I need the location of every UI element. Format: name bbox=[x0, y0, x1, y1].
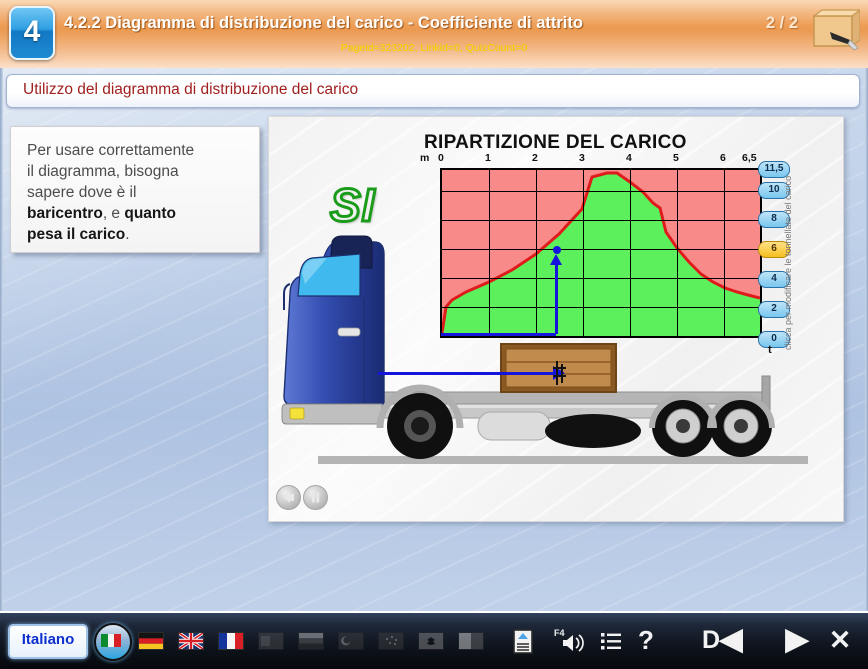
document-icon bbox=[509, 627, 537, 655]
flag-italy[interactable] bbox=[94, 623, 132, 661]
subtitle-text: Utilizzo del diagramma di distribuzione … bbox=[23, 81, 358, 99]
x-tick-5: 5 bbox=[673, 152, 679, 164]
flag-disabled-4[interactable] bbox=[378, 632, 404, 650]
info-line-3: sapere dove è il bbox=[27, 184, 136, 201]
x-tick-2: 2 bbox=[532, 152, 538, 164]
info-bold-baricentro: baricentro bbox=[27, 205, 103, 222]
flag-disabled-3-icon bbox=[339, 633, 363, 649]
pause-glyph bbox=[304, 486, 327, 509]
x-tick-1: 1 bbox=[485, 152, 491, 164]
info-line-1: Per usare correttamente bbox=[27, 142, 194, 159]
gridline-h-8 bbox=[442, 220, 760, 221]
info-box: Per usare correttamente il diagramma, bi… bbox=[10, 126, 260, 253]
info-period: . bbox=[125, 226, 129, 243]
x-tick-4: 4 bbox=[626, 152, 632, 164]
baricentro-marker[interactable] bbox=[551, 360, 569, 386]
flag-disabled-3[interactable] bbox=[338, 632, 364, 650]
back-arrow-glyph bbox=[277, 486, 300, 509]
flag-disabled-4-icon bbox=[379, 633, 403, 649]
flag-disabled-6[interactable] bbox=[458, 632, 484, 650]
info-mid: , e bbox=[103, 205, 125, 222]
flag-germany[interactable] bbox=[138, 632, 164, 650]
flag-disabled-1-icon bbox=[259, 633, 283, 649]
x-tick-6: 6 bbox=[720, 152, 726, 164]
y-axis-hint-text: clicca per modificare le tonnellate del … bbox=[783, 160, 801, 350]
pause-icon[interactable] bbox=[303, 485, 328, 510]
flag-uk[interactable] bbox=[178, 632, 204, 650]
previous-page-button[interactable]: ◀ bbox=[706, 627, 756, 653]
gridline-v-5 bbox=[677, 170, 678, 336]
back-icon[interactable] bbox=[276, 485, 301, 510]
app-header: 4 4.2.2 Diagramma di distribuzione del c… bbox=[0, 0, 868, 68]
bottom-toolbar: Italiano bbox=[0, 611, 868, 669]
chart-title: RIPARTIZIONE DEL CARICO bbox=[424, 132, 687, 154]
chart-x-axis: m 0 1 2 3 4 5 6 6,5 bbox=[420, 152, 770, 166]
info-line-2: il diagramma, bisogna bbox=[27, 163, 179, 180]
subtitle-bar: Utilizzo del diagramma di distribuzione … bbox=[6, 74, 860, 108]
index-list-button[interactable] bbox=[596, 627, 626, 662]
chart-load-point[interactable] bbox=[553, 246, 561, 254]
print-document-button[interactable] bbox=[508, 627, 538, 662]
flag-france[interactable] bbox=[218, 632, 244, 650]
x-tick-65: 6,5 bbox=[742, 152, 757, 164]
list-icon bbox=[597, 627, 625, 655]
gridline-h-4 bbox=[442, 278, 760, 279]
flag-italy-icon bbox=[96, 625, 126, 655]
page-indicator: 2 / 2 bbox=[766, 14, 798, 33]
language-label[interactable]: Italiano bbox=[8, 624, 88, 659]
gridline-h-2 bbox=[442, 307, 760, 308]
x-tick-3: 3 bbox=[579, 152, 585, 164]
gridline-v-1 bbox=[489, 170, 490, 336]
info-bold-pesa: pesa il carico bbox=[27, 226, 125, 243]
flag-disabled-1[interactable] bbox=[258, 632, 284, 650]
x-tick-0: 0 bbox=[438, 152, 444, 164]
gridline-h-10 bbox=[442, 191, 760, 192]
flag-disabled-2-icon bbox=[299, 633, 323, 649]
gridline-h-6 bbox=[442, 249, 760, 250]
x-unit-label: m bbox=[420, 152, 429, 164]
gridline-v-6 bbox=[724, 170, 725, 336]
flag-disabled-2[interactable] bbox=[298, 632, 324, 650]
gridline-v-2 bbox=[536, 170, 537, 336]
crate-icon bbox=[806, 6, 860, 58]
info-box-text: Per usare correttamente il diagramma, bi… bbox=[27, 140, 249, 245]
audio-f4-button[interactable]: F4 bbox=[552, 627, 588, 662]
page-title: 4.2.2 Diagramma di distribuzione del car… bbox=[64, 14, 583, 33]
flag-france-icon bbox=[219, 633, 243, 649]
info-bold-quanto: quanto bbox=[124, 205, 176, 222]
speaker-icon: F4 bbox=[553, 627, 587, 655]
chart-baseline-connector bbox=[441, 333, 556, 336]
flag-disabled-5-icon bbox=[419, 633, 443, 649]
y-unit-label: t bbox=[768, 344, 772, 356]
svg-text:F4: F4 bbox=[554, 628, 565, 638]
close-button[interactable]: ✕ bbox=[824, 627, 856, 653]
playback-controls bbox=[276, 485, 330, 509]
chart-load-arrow-stem bbox=[555, 262, 558, 334]
chart-plot-area[interactable] bbox=[440, 168, 762, 338]
next-page-button[interactable]: ▶ bbox=[772, 627, 822, 653]
gridline-v-4 bbox=[630, 170, 631, 336]
window-frame-left bbox=[0, 68, 3, 613]
help-button[interactable]: ? bbox=[634, 627, 658, 653]
flag-germany-icon bbox=[139, 633, 163, 649]
flag-disabled-5[interactable] bbox=[418, 632, 444, 650]
flag-uk-icon bbox=[179, 633, 203, 649]
debug-info-text: Pageid=323202, Linkid=0, QuizCount=0 bbox=[0, 42, 868, 54]
load-arrow-line bbox=[378, 372, 558, 375]
flag-disabled-6-icon bbox=[459, 633, 483, 649]
gridline-v-3 bbox=[583, 170, 584, 336]
